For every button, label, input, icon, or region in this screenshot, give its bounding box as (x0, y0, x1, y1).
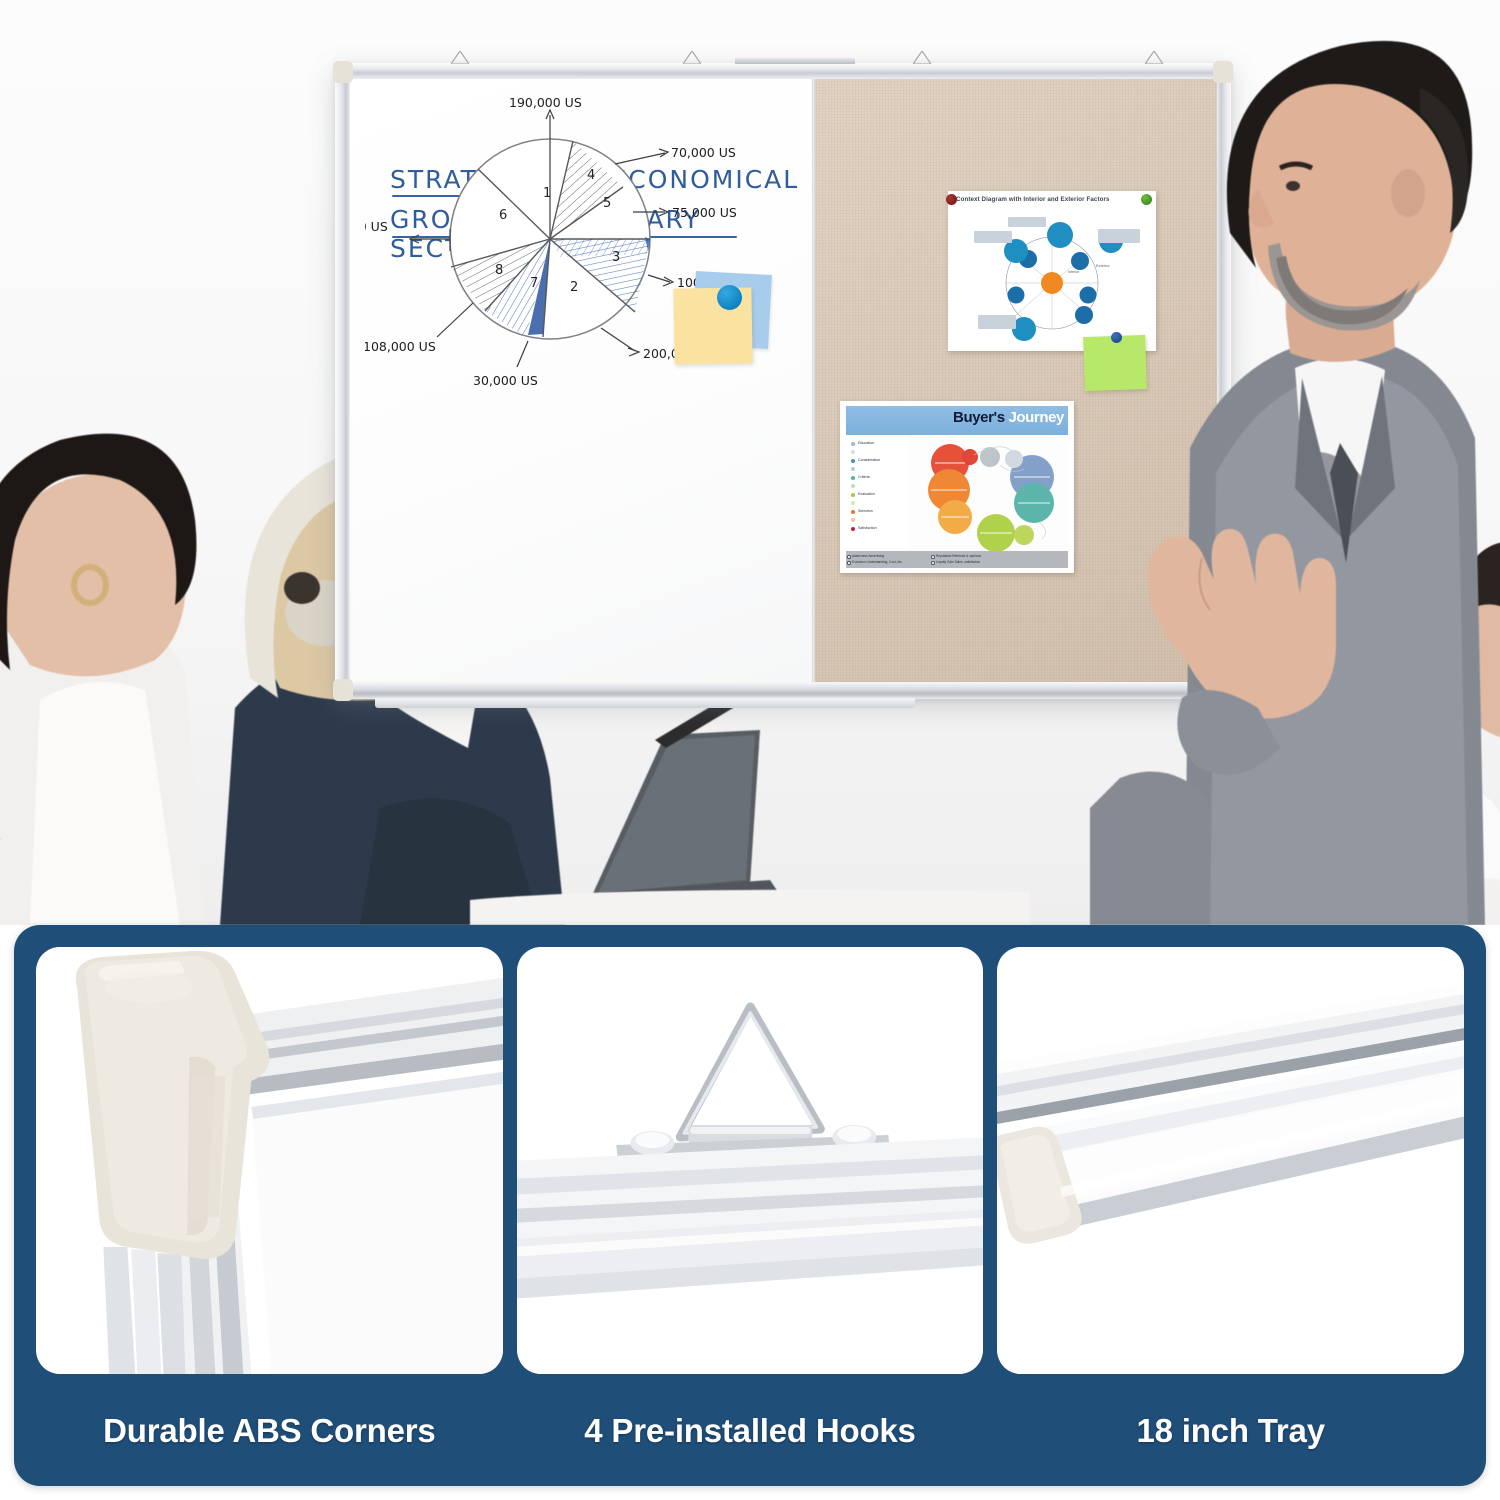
bj-legend-label: Consideration (858, 458, 880, 462)
bj-footer-dot-icon (931, 561, 935, 565)
feature-card-hooks (517, 947, 984, 1374)
bj-legend-dot-icon (851, 518, 855, 522)
buyers-journey-poster[interactable]: Buyer's Journey EducationConsiderationCr… (840, 401, 1074, 573)
svg-text:5: 5 (603, 196, 611, 211)
lifestyle-photo: STRATEGY FOR ECONOMICAL GROWTH IN TERTIA… (0, 0, 1500, 925)
bj-footer-dot-icon (847, 555, 851, 559)
bj-legend-label: Education (858, 441, 874, 445)
caption-abs-corners: Durable ABS Corners (36, 1412, 503, 1450)
bj-footer-dot-icon (931, 555, 935, 559)
bj-title-dark: Buyer's (953, 409, 1005, 426)
wall-hook-1-icon (451, 51, 469, 64)
bj-legend-label: Criteria (858, 475, 870, 479)
bj-footer-item: Exclusion Understanding, Cost, etc. (852, 560, 903, 564)
svg-text:Interior: Interior (1068, 270, 1080, 274)
buyers-journey-footer: Awareness AdvertisingReputation Referral… (846, 551, 1068, 568)
caption-hooks: 4 Pre-installed Hooks (517, 1412, 984, 1450)
bj-legend-label: Satisfaction (858, 526, 877, 530)
feature-panel: Durable ABS Corners 4 Pre-installed Hook… (14, 925, 1486, 1486)
feature-cards-row (36, 947, 1464, 1374)
bj-legend-dot-icon (851, 476, 855, 480)
pie-callout-7: 30,000 US (473, 373, 538, 388)
navy-pushpin-icon[interactable] (946, 194, 957, 205)
buyers-journey-diagram (908, 435, 1068, 551)
bj-legend-dot-icon (851, 450, 855, 454)
bj-footer-dot-icon (847, 561, 851, 565)
bj-legend-dot-icon (851, 527, 855, 531)
abs-corner-cap-bottom-left (333, 679, 353, 701)
bj-legend-label: Evaluation (858, 492, 875, 496)
presenter (1090, 18, 1500, 925)
feature-captions-row: Durable ABS Corners 4 Pre-installed Hook… (36, 1394, 1464, 1468)
bj-legend-dot-icon (851, 501, 855, 505)
bj-legend-dot-icon (851, 493, 855, 497)
svg-text:4: 4 (587, 168, 595, 183)
svg-text:1: 1 (543, 186, 551, 201)
caption-tray: 18 inch Tray (997, 1412, 1464, 1450)
bj-legend-dot-icon (851, 510, 855, 514)
blue-magnet-icon[interactable] (717, 285, 742, 310)
bj-footer-item: Loyalty Gain Sales, satisfaction (936, 560, 980, 564)
board-center-divider (812, 79, 815, 682)
center-wall-bracket (735, 58, 855, 64)
bj-legend-dot-icon (851, 484, 855, 488)
whiteboard-surface[interactable]: STRATEGY FOR ECONOMICAL GROWTH IN TERTIA… (350, 79, 813, 682)
svg-text:7: 7 (530, 276, 538, 291)
bj-legend-dot-icon (851, 467, 855, 471)
wall-hook-2-icon (683, 51, 701, 64)
bj-footer-item: Reputation Referrals & opinions (936, 554, 981, 558)
bj-footer-item: Awareness Advertising (852, 554, 884, 558)
svg-text:6: 6 (499, 208, 507, 223)
abs-corner-photo (36, 947, 503, 1374)
bj-title-light: Journey (1008, 409, 1064, 426)
bj-legend-dot-icon (851, 459, 855, 463)
abs-corner-cap-top-left (333, 61, 353, 83)
bj-legend-label: Selection (858, 509, 873, 513)
pie-callout-5: 75,000 US (672, 205, 737, 220)
pre-installed-hook-photo (517, 947, 984, 1374)
notepad-and-table (470, 700, 1030, 925)
wall-hook-3-icon (913, 51, 931, 64)
buyers-journey-legend: EducationConsiderationCriteriaEvaluation… (846, 435, 908, 551)
pie-callout-4: 70,000 US (671, 145, 736, 160)
svg-text:8: 8 (495, 263, 503, 278)
svg-text:2: 2 (570, 280, 578, 295)
frame-rail-left (335, 63, 350, 699)
pie-callout-8: 108,000 US (365, 339, 436, 354)
pie-callout-6: 230,000 US (365, 219, 388, 234)
buyers-journey-title: Buyer's Journey (953, 409, 1064, 426)
pie-callout-1: 190,000 US (509, 95, 582, 110)
bj-legend-dot-icon (851, 442, 855, 446)
marker-tray (375, 698, 915, 708)
marker-tray-photo (997, 947, 1464, 1374)
hand-drawn-pie-chart: 1 2 3 4 5 6 7 8 (365, 79, 815, 682)
feature-card-abs-corners (36, 947, 503, 1374)
svg-text:3: 3 (612, 250, 620, 265)
feature-card-tray (997, 947, 1464, 1374)
